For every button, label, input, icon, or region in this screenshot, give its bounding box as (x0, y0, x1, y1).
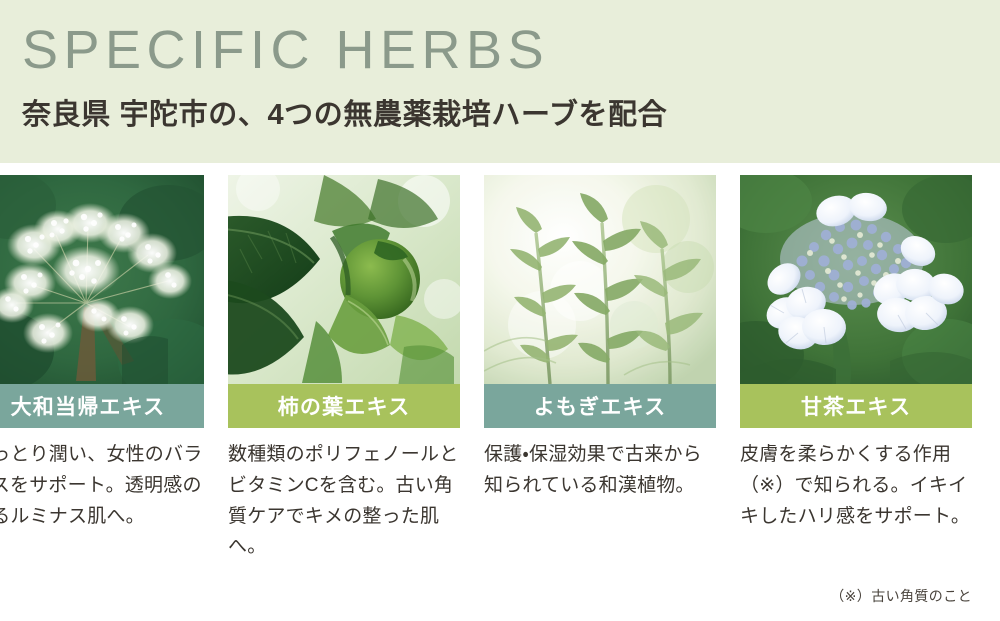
page-subtitle: 奈良県 宇陀市の、4つの無農薬栽培ハーブを配合 (22, 98, 667, 133)
herb-card-photo (740, 175, 972, 384)
herb-card-photo (0, 175, 204, 384)
herb-card[interactable]: よもぎエキス 保護・保湿効果で古来から知られている和漢植物。 (484, 175, 716, 563)
herb-card-photo (484, 175, 716, 384)
yamato-toki-white-umbel-flower-photo (0, 175, 204, 384)
footnote: （※）古い角質のこと (830, 589, 972, 603)
herb-card-description: 皮膚を柔らかくする作用（※）で知られる。イキイキしたハリ感をサポート。 (740, 428, 972, 532)
herb-card-label: 大和当帰エキス (0, 384, 204, 428)
header-band: SPECIFIC HERBS 奈良県 宇陀市の、4つの無農薬栽培ハーブを配合 (0, 0, 1000, 163)
herb-cards-row: 大和当帰エキス しっとり潤い、女性のバランスをサポート。透明感のあるルミナス肌へ… (0, 175, 1000, 563)
herb-card-description: 数種類のポリフェノールとビタミンCを含む。古い角質ケアでキメの整った肌へ。 (228, 428, 460, 563)
herb-card-label: 甘茶エキス (740, 384, 972, 428)
page-title: SPECIFIC HERBS (22, 23, 549, 77)
amacha-lacecap-hydrangea-photo (740, 175, 972, 384)
yomogi-mugwort-backlit-photo (484, 175, 716, 384)
herb-card-description: しっとり潤い、女性のバランスをサポート。透明感のあるルミナス肌へ。 (0, 428, 204, 532)
herb-card[interactable]: 柿の葉エキス 数種類のポリフェノールとビタミンCを含む。古い角質ケアでキメの整っ… (228, 175, 460, 563)
herb-card-label: 柿の葉エキス (228, 384, 460, 428)
herb-card-label: よもぎエキス (484, 384, 716, 428)
herb-card-photo (228, 175, 460, 384)
herb-card-description: 保護・保湿効果で古来から知られている和漢植物。 (484, 428, 716, 502)
herb-card[interactable]: 大和当帰エキス しっとり潤い、女性のバランスをサポート。透明感のあるルミナス肌へ… (0, 175, 204, 563)
herb-card[interactable]: 甘茶エキス 皮膚を柔らかくする作用（※）で知られる。イキイキしたハリ感をサポート… (740, 175, 972, 563)
kaki-no-ha-green-persimmon-photo (228, 175, 460, 384)
